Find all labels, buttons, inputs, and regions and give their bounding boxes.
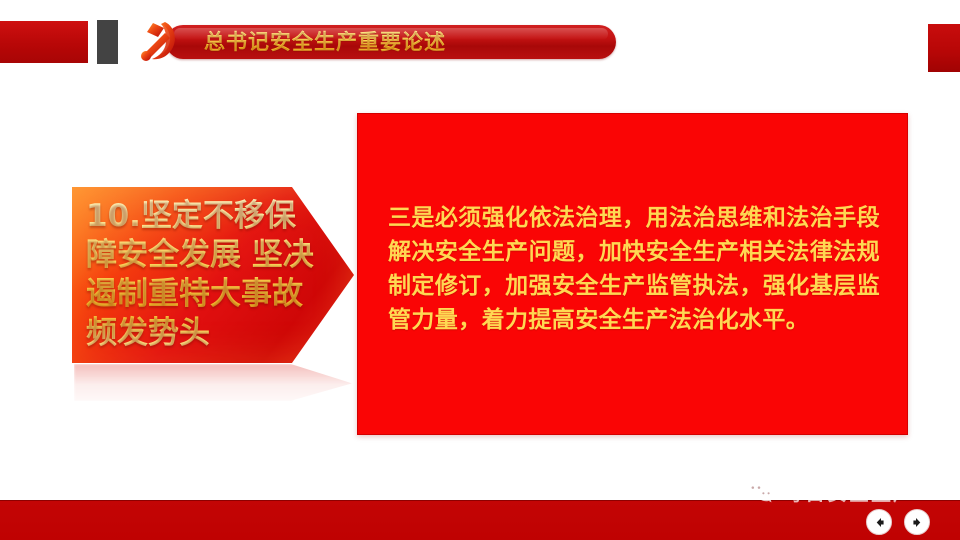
top-left-red-block (0, 21, 88, 63)
next-slide-button[interactable] (904, 509, 930, 535)
section-banner: 10.坚定不移保障安全发展 坚决遏制重特大事故频发势头 (72, 187, 354, 363)
top-gray-divider-bar (97, 20, 118, 64)
slide-navigation (866, 509, 930, 535)
party-emblem-hammer-sickle-icon (131, 14, 183, 66)
banner-title-text: 10.坚定不移保障安全发展 坚决遏制重特大事故频发势头 (86, 197, 326, 353)
prev-slide-button[interactable] (866, 509, 892, 535)
footer-red-band (0, 500, 960, 540)
top-right-red-block (928, 24, 960, 72)
banner-reflection (74, 364, 352, 410)
presentation-slide: 总书记安全生产重要论述 10.坚定不移保障安全发展 坚决遏制重特大事故频发势头 … (0, 0, 960, 540)
content-panel: 三是必须强化依法治理，用法治思维和法治手段解决安全生产问题，加快安全生产相关法律… (357, 113, 908, 435)
arrow-left-icon (873, 516, 886, 529)
page-title: 总书记安全生产重要论述 (204, 26, 446, 58)
content-body-text: 三是必须强化依法治理，用法治思维和法治手段解决安全生产问题，加快安全生产相关法律… (388, 201, 880, 337)
arrow-right-icon (911, 516, 924, 529)
